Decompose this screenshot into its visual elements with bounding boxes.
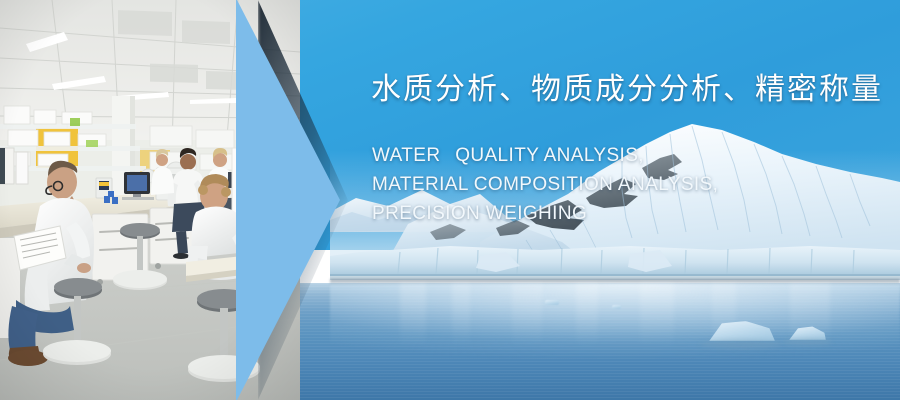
subtitle-english: WATER QUALITY ANALYSIS, MATERIAL COMPOSI…	[372, 141, 718, 228]
banner-copy: 水质分析、物质成分分析、精密称量 WATER QUALITY ANALYSIS,…	[371, 0, 891, 400]
headline-chinese: 水质分析、物质成分分析、精密称量	[371, 70, 883, 110]
subtitle-line-3: PRECISION WEIGHING	[372, 199, 718, 228]
subtitle-line-1-part-b: QUALITY ANALYSIS,	[455, 145, 644, 166]
subtitle-line-1: WATER QUALITY ANALYSIS,	[372, 141, 718, 170]
subtitle-line-2: MATERIAL COMPOSITION ANALYSIS,	[372, 170, 718, 199]
hero-banner: 水质分析、物质成分分析、精密称量 WATER QUALITY ANALYSIS,…	[0, 0, 900, 400]
subtitle-line-1-part-a: WATER	[372, 145, 441, 166]
